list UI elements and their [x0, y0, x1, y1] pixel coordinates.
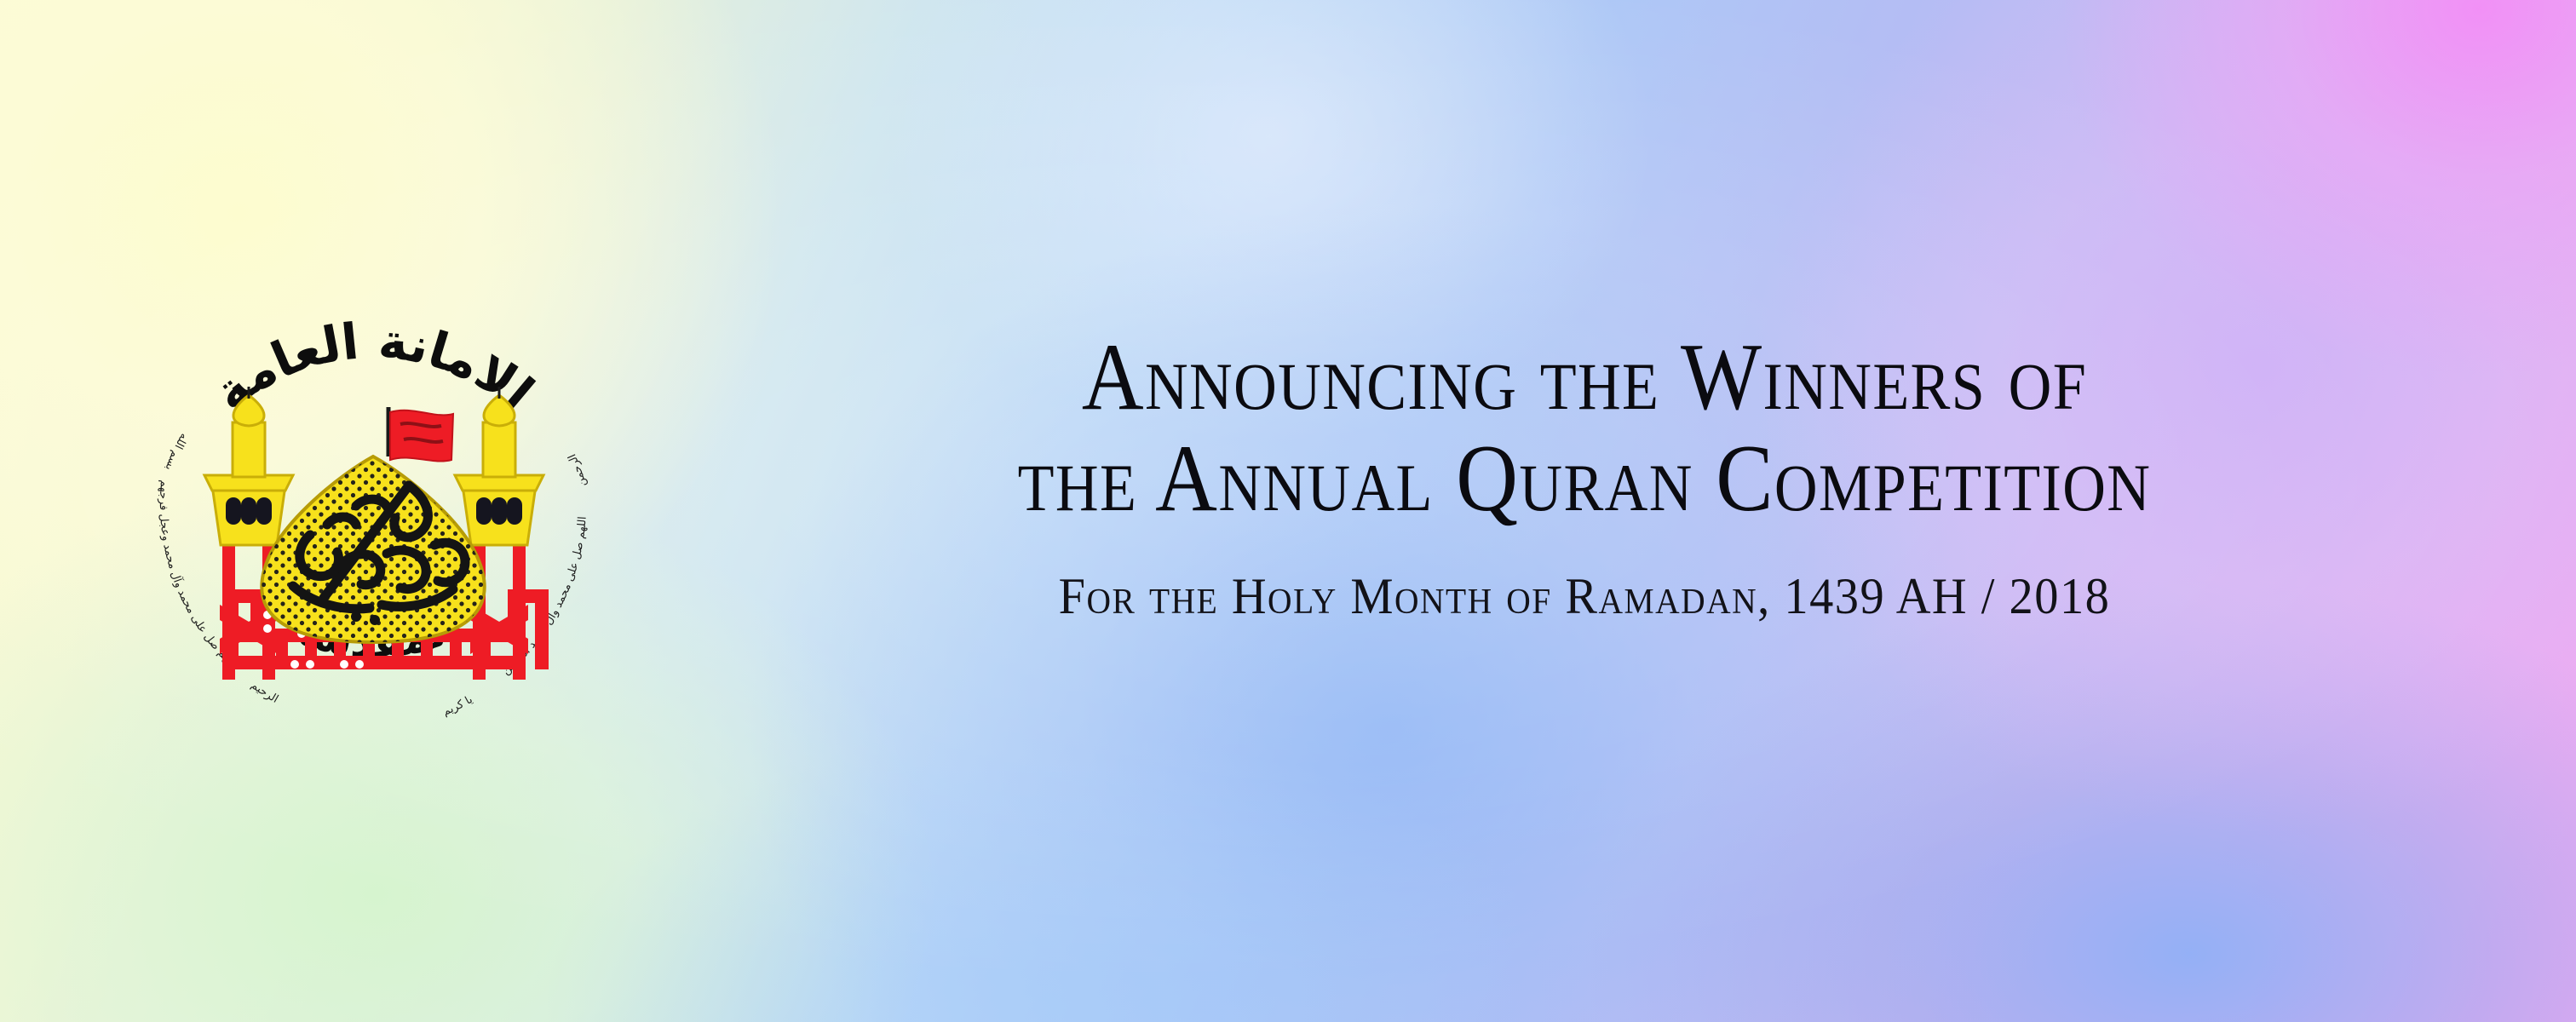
announcement-banner: اللهم صل على محمد وآل محمد وعجل فرجهم ال…: [0, 0, 2576, 1022]
headline-block: Announcing the Winners of the Annual Qur…: [750, 327, 2419, 624]
red-flag-icon: [388, 407, 453, 462]
headline-line-1: Announcing the Winners of: [833, 327, 2336, 428]
svg-text:الرحيم: الرحيم: [249, 679, 280, 706]
svg-text:الرحمن: الرحمن: [566, 452, 589, 489]
headline-line-2: the Annual Quran Competition: [833, 428, 2336, 530]
subtitle: For the Holy Month of Ramadan, 1439 AH /…: [800, 568, 2369, 624]
golden-dome-icon: [262, 456, 484, 642]
shrine-emblem-logo: اللهم صل على محمد وآل محمد وعجل فرجهم ال…: [101, 204, 646, 766]
svg-text:يا كريم: يا كريم: [441, 693, 475, 719]
svg-text:بسم الله: بسم الله: [162, 431, 190, 472]
